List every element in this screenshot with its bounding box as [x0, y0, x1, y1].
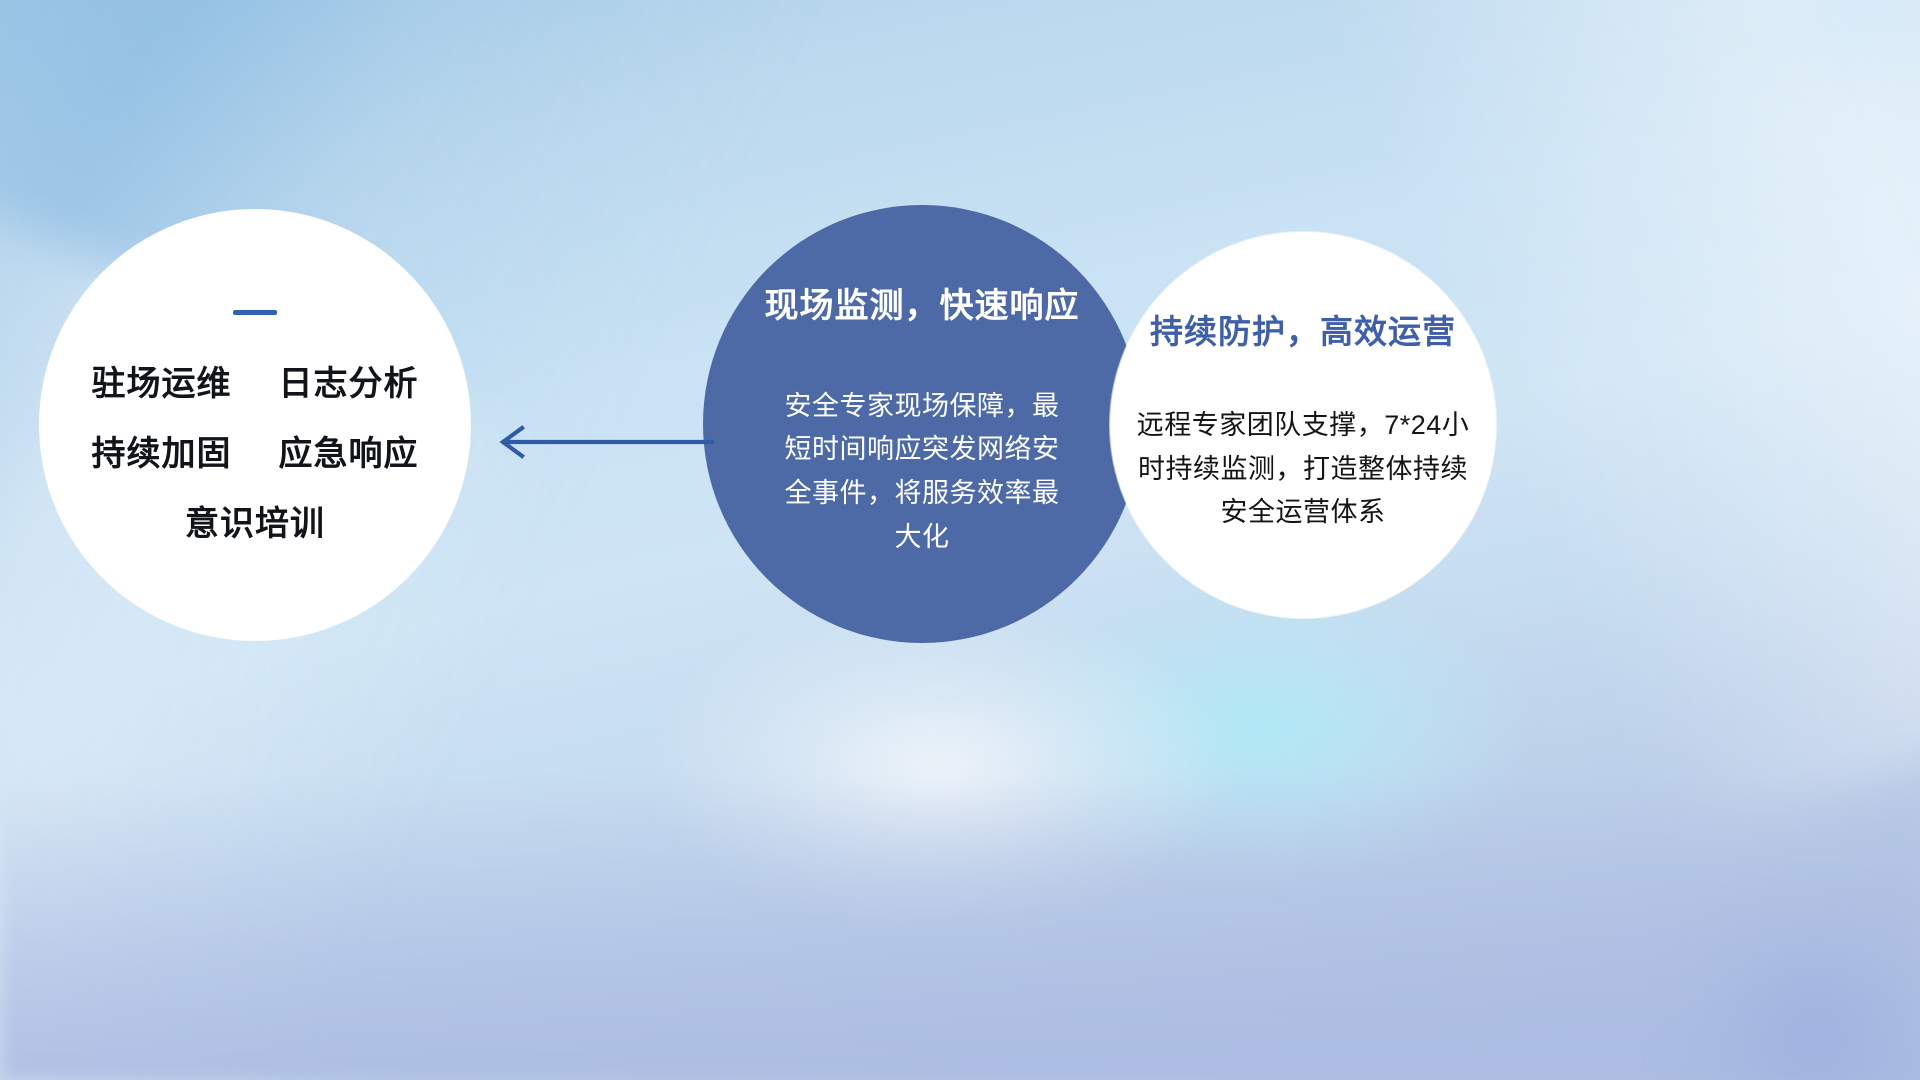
- divider-dash-icon: [233, 310, 277, 315]
- keyword-awareness-training: 意识培训: [185, 507, 325, 541]
- keyword-onsite-ops: 驻场运维: [92, 365, 232, 403]
- service-capabilities-circle: 驻场运维 日志分析 持续加固 应急响应 意识培训: [39, 209, 471, 641]
- onsite-monitoring-title: 现场监测，快速响应: [765, 289, 1080, 323]
- continuous-protection-title: 持续防护，高效运营: [1150, 315, 1456, 348]
- keyword-emergency-response: 应急响应: [278, 435, 418, 473]
- keyword-row: 持续加固 应急响应: [92, 437, 419, 471]
- keyword-row: 驻场运维 日志分析: [92, 367, 419, 401]
- continuous-protection-circle: 持续防护，高效运营 远程专家团队支撑，7*24小时持续监测，打造整体持续安全运营…: [1110, 232, 1496, 618]
- arrow-left-icon: [492, 418, 714, 466]
- slide-canvas: 驻场运维 日志分析 持续加固 应急响应 意识培训 现场监测，快速响应 安全专家现…: [0, 0, 1920, 1080]
- background-highlight-top-right: [1460, 0, 1920, 400]
- onsite-monitoring-circle: 现场监测，快速响应 安全专家现场保障，最短时间响应突发网络安全事件，将服务效率最…: [703, 205, 1141, 643]
- background-corner-bottom-right: [1380, 600, 1920, 1080]
- onsite-monitoring-body: 安全专家现场保障，最短时间响应突发网络安全事件，将服务效率最大化: [772, 385, 1072, 560]
- keyword-log-analysis: 日志分析: [278, 365, 418, 403]
- keyword-continuous-hardening: 持续加固: [92, 435, 232, 473]
- continuous-protection-body: 远程专家团队支撑，7*24小时持续监测，打造整体持续安全运营体系: [1135, 404, 1471, 535]
